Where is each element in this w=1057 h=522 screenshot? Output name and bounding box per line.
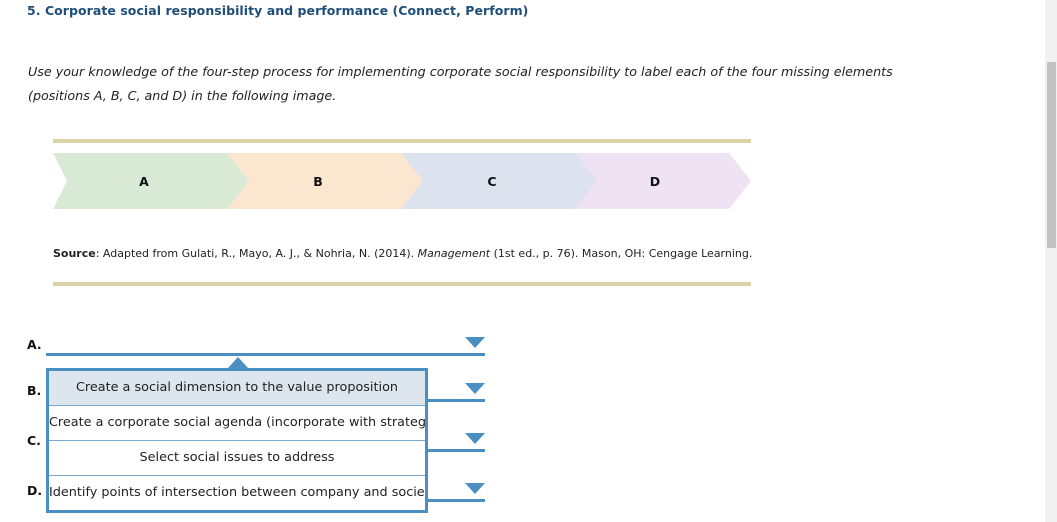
dropdown-menu[interactable]: Create a social dimension to the value p…: [46, 368, 428, 513]
page-title: 5. Corporate social responsibility and p…: [27, 3, 528, 18]
figure-top-rule: [53, 139, 751, 143]
chevron-step-b: B: [227, 153, 425, 209]
chevron-step-d: D: [575, 153, 751, 209]
scrollbar-thumb[interactable]: [1047, 62, 1056, 248]
source-text-after: (1st ed., p. 76). Mason, OH: Cengage Lea…: [490, 247, 752, 260]
chevron-label-b: B: [313, 174, 323, 189]
chevron-label-a: A: [139, 174, 149, 189]
chevron-label-d: D: [650, 174, 660, 189]
chevron-label-c: C: [487, 174, 496, 189]
page-scrollbar[interactable]: [1045, 0, 1057, 522]
answer-letter-d: D.: [27, 483, 42, 498]
answer-letter-b: B.: [27, 383, 41, 398]
process-diagram: A B C D: [53, 153, 753, 209]
chevron-down-icon[interactable]: [465, 337, 485, 348]
chevron-down-icon[interactable]: [465, 433, 485, 444]
source-citation: Source: Adapted from Gulati, R., Mayo, A…: [53, 247, 752, 260]
dropdown-option[interactable]: Identify points of intersection between …: [49, 476, 425, 510]
chevron-step-c: C: [401, 153, 599, 209]
answer-select-a[interactable]: [46, 353, 485, 356]
source-book-title: Management: [418, 247, 490, 260]
page-content: 5. Corporate social responsibility and p…: [0, 0, 1045, 522]
answer-letter-c: C.: [27, 433, 41, 448]
dropdown-option[interactable]: Create a social dimension to the value p…: [49, 371, 425, 406]
chevron-down-icon[interactable]: [465, 383, 485, 394]
chevron-step-a: A: [53, 153, 251, 209]
answer-row-a: A.: [27, 333, 487, 357]
figure-bottom-rule: [53, 282, 751, 286]
source-text-before: : Adapted from Gulati, R., Mayo, A. J., …: [96, 247, 418, 260]
answer-letter-a: A.: [27, 337, 42, 352]
chevron-down-icon[interactable]: [465, 483, 485, 494]
dropdown-pointer-icon: [228, 357, 248, 368]
dropdown-option[interactable]: Select social issues to address: [49, 441, 425, 476]
source-label: Source: [53, 247, 96, 260]
instruction-text: Use your knowledge of the four-step proc…: [28, 60, 943, 108]
dropdown-option[interactable]: Create a corporate social agenda (incorp…: [49, 406, 425, 441]
